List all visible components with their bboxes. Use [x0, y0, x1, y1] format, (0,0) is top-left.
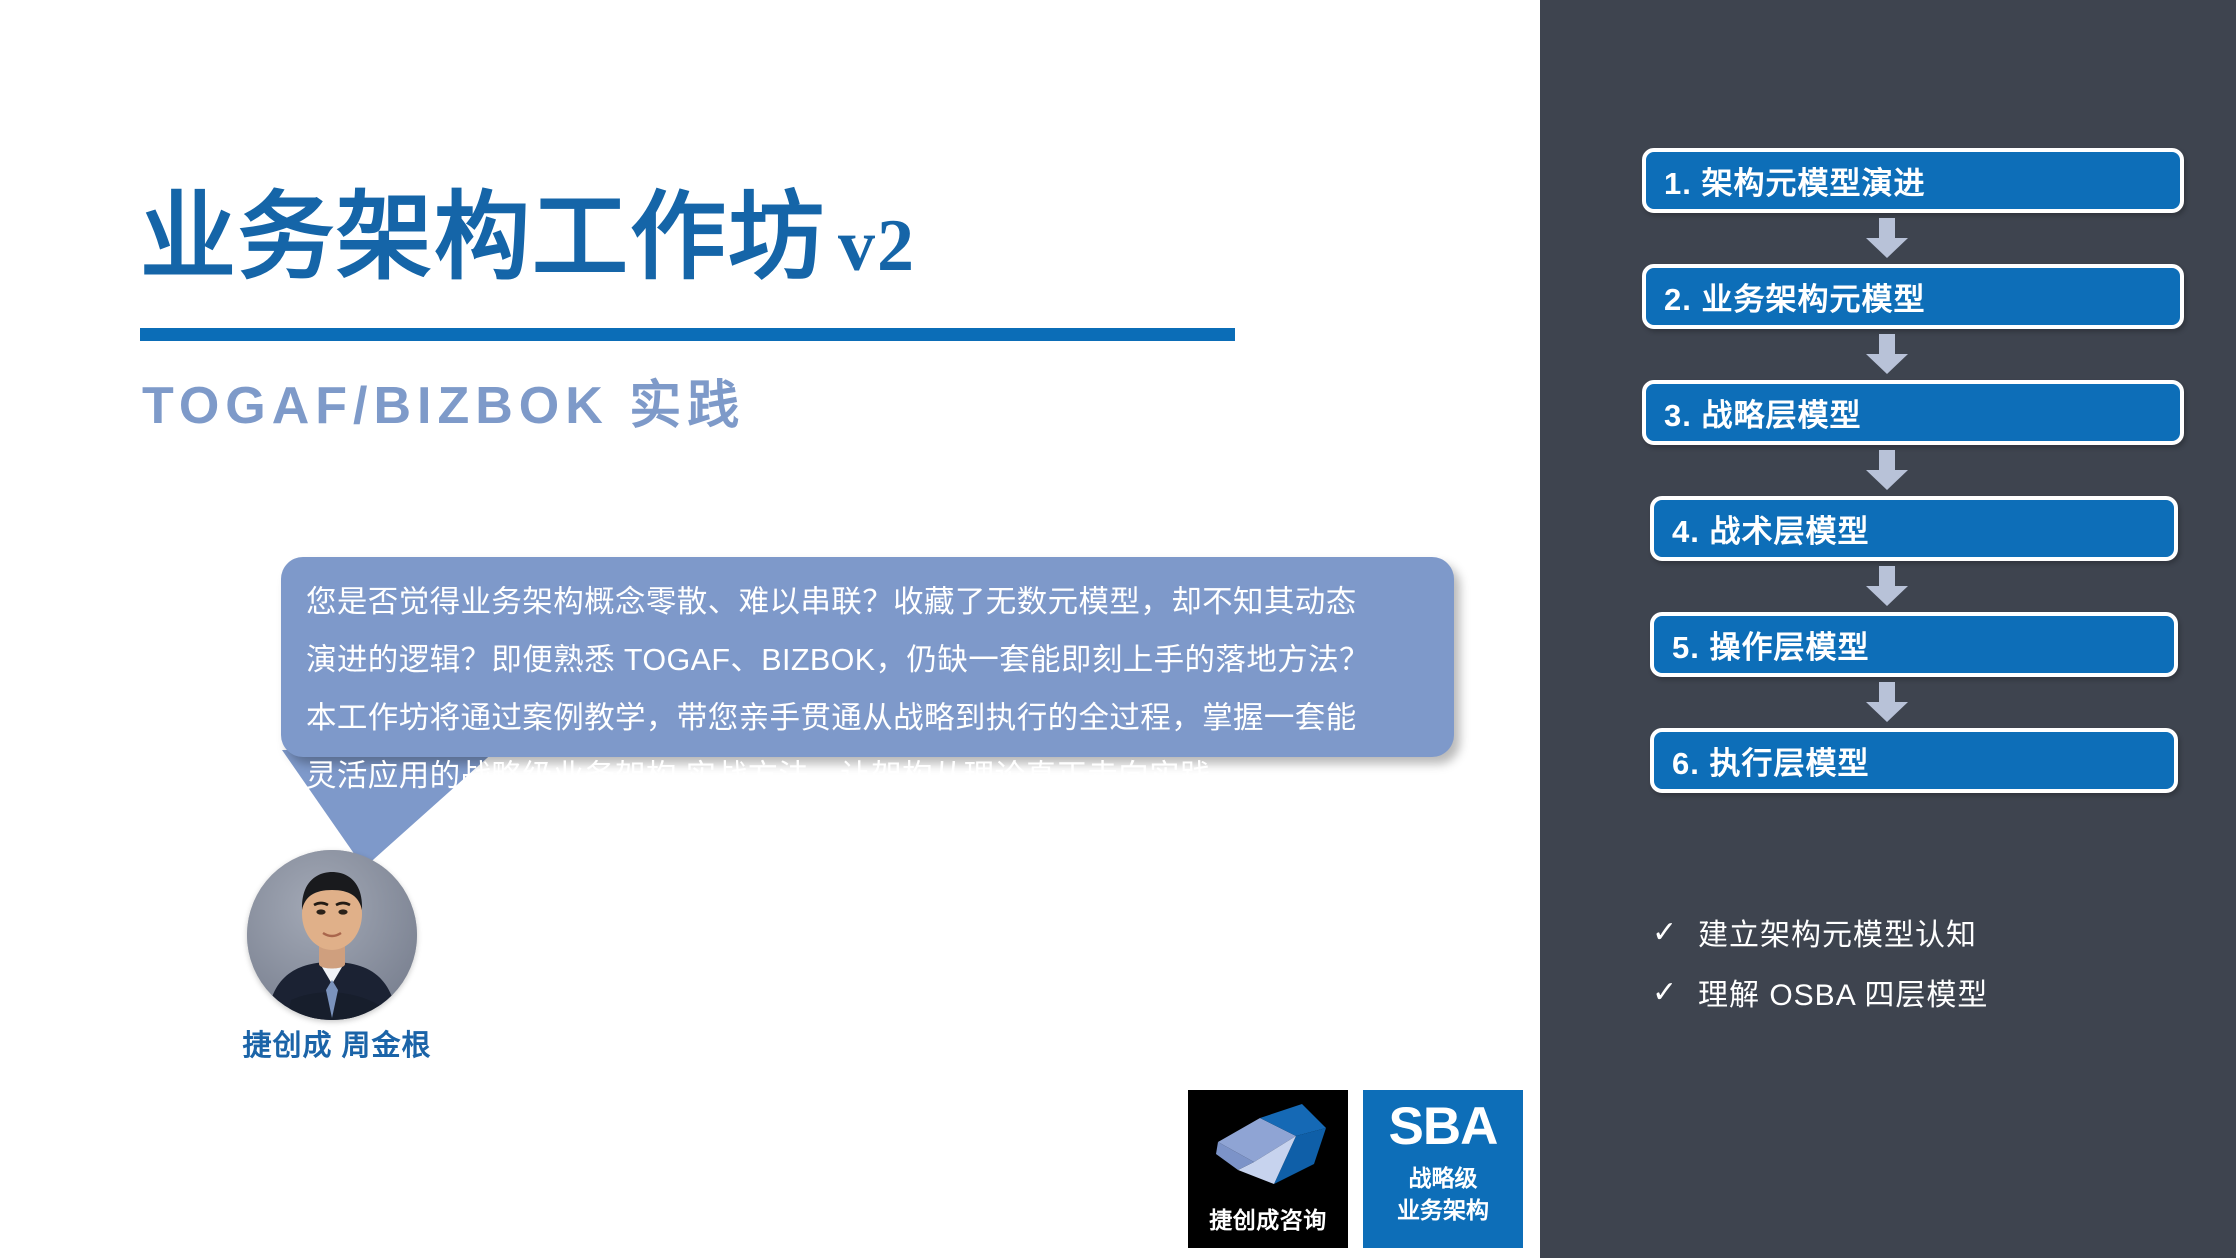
arrow-down-icon [1866, 334, 1908, 374]
logo-jiechuangcheng: 捷创成咨询 [1188, 1090, 1348, 1248]
objective-item: ✓ 建立架构元模型认知 [1652, 910, 2172, 954]
agenda-step-3[interactable]: 3. 战略层模型 [1642, 380, 2184, 445]
arrow-down-icon [1866, 218, 1908, 258]
objectives-list: ✓ 建立架构元模型认知 ✓ 理解 OSBA 四层模型 [1652, 910, 2172, 1030]
logo-jiechuangcheng-label: 捷创成咨询 [1188, 1201, 1348, 1235]
check-icon: ✓ [1652, 975, 1698, 1010]
agenda-step-4-label: 4. 战术层模型 [1654, 506, 1869, 551]
agenda-step-1-label: 1. 架构元模型演进 [1646, 158, 1925, 203]
cube-icon [1210, 1102, 1326, 1194]
agenda-step-5[interactable]: 5. 操作层模型 [1650, 612, 2178, 677]
speech-line: 本工作坊将通过案例教学，带您亲手贯通从战略到执行的全过程，掌握一套能 [306, 689, 1436, 747]
arrow-down-icon [1866, 566, 1908, 606]
agenda-step-6[interactable]: 6. 执行层模型 [1650, 728, 2178, 793]
objective-item-label: 理解 OSBA 四层模型 [1698, 970, 1988, 1014]
title-underline-rule [140, 328, 1235, 341]
page-title-text: 业务架构工作坊 [140, 184, 826, 291]
arrow-down-icon [1866, 450, 1908, 490]
person-photo-icon [247, 850, 417, 1020]
speech-line: 灵活应用的战略级业务架构 实战方法，让架构从理论真正走向实践。 [306, 747, 1436, 805]
page-title: 业务架构工作坊v2 [140, 188, 1240, 289]
agenda-step-2[interactable]: 2. 业务架构元模型 [1642, 264, 2184, 329]
speech-line: 您是否觉得业务架构概念零散、难以串联？收藏了无数元模型，却不知其动态 [306, 573, 1436, 631]
agenda-step-3-label: 3. 战略层模型 [1646, 390, 1861, 435]
logo-sba: SBA 战略级 业务架构 [1363, 1090, 1523, 1248]
logo-sba-subtitle: 战略级 业务架构 [1363, 1162, 1523, 1226]
page-title-version: v2 [826, 205, 916, 287]
arrow-down-icon [1866, 682, 1908, 722]
agenda-step-1[interactable]: 1. 架构元模型演进 [1642, 148, 2184, 213]
objective-item-label: 建立架构元模型认知 [1698, 910, 1977, 954]
agenda-panel: 1. 架构元模型演进 2. 业务架构元模型 3. 战略层模型 4. 战术层模型 … [1540, 0, 2236, 1258]
title-block: 业务架构工作坊v2 [140, 188, 1240, 289]
avatar [247, 850, 417, 1020]
check-icon: ✓ [1652, 915, 1698, 950]
left-content-panel: 业务架构工作坊v2 TOGAF/BIZBOK 实践 您是否觉得业务架构概念零散、… [0, 0, 1540, 1258]
logo-sba-subtitle-line2: 业务架构 [1363, 1194, 1523, 1226]
page-subtitle: TOGAF/BIZBOK 实践 [142, 363, 745, 438]
speech-line: 演进的逻辑？即便熟悉 TOGAF、BIZBOK，仍缺一套能即刻上手的落地方法？ [306, 631, 1436, 689]
objective-item: ✓ 理解 OSBA 四层模型 [1652, 970, 2172, 1014]
speech-bubble: 您是否觉得业务架构概念零散、难以串联？收藏了无数元模型，却不知其动态 演进的逻辑… [281, 557, 1454, 757]
agenda-step-5-label: 5. 操作层模型 [1654, 622, 1869, 667]
logo-sba-subtitle-line1: 战略级 [1363, 1162, 1523, 1194]
agenda-step-6-label: 6. 执行层模型 [1654, 738, 1869, 783]
speech-bubble-text: 您是否觉得业务架构概念零散、难以串联？收藏了无数元模型，却不知其动态 演进的逻辑… [306, 573, 1436, 805]
agenda-step-2-label: 2. 业务架构元模型 [1646, 274, 1925, 319]
speaker-name: 捷创成 周金根 [222, 1022, 452, 1064]
agenda-step-4[interactable]: 4. 战术层模型 [1650, 496, 2178, 561]
logo-sba-mark: SBA [1363, 1100, 1523, 1153]
